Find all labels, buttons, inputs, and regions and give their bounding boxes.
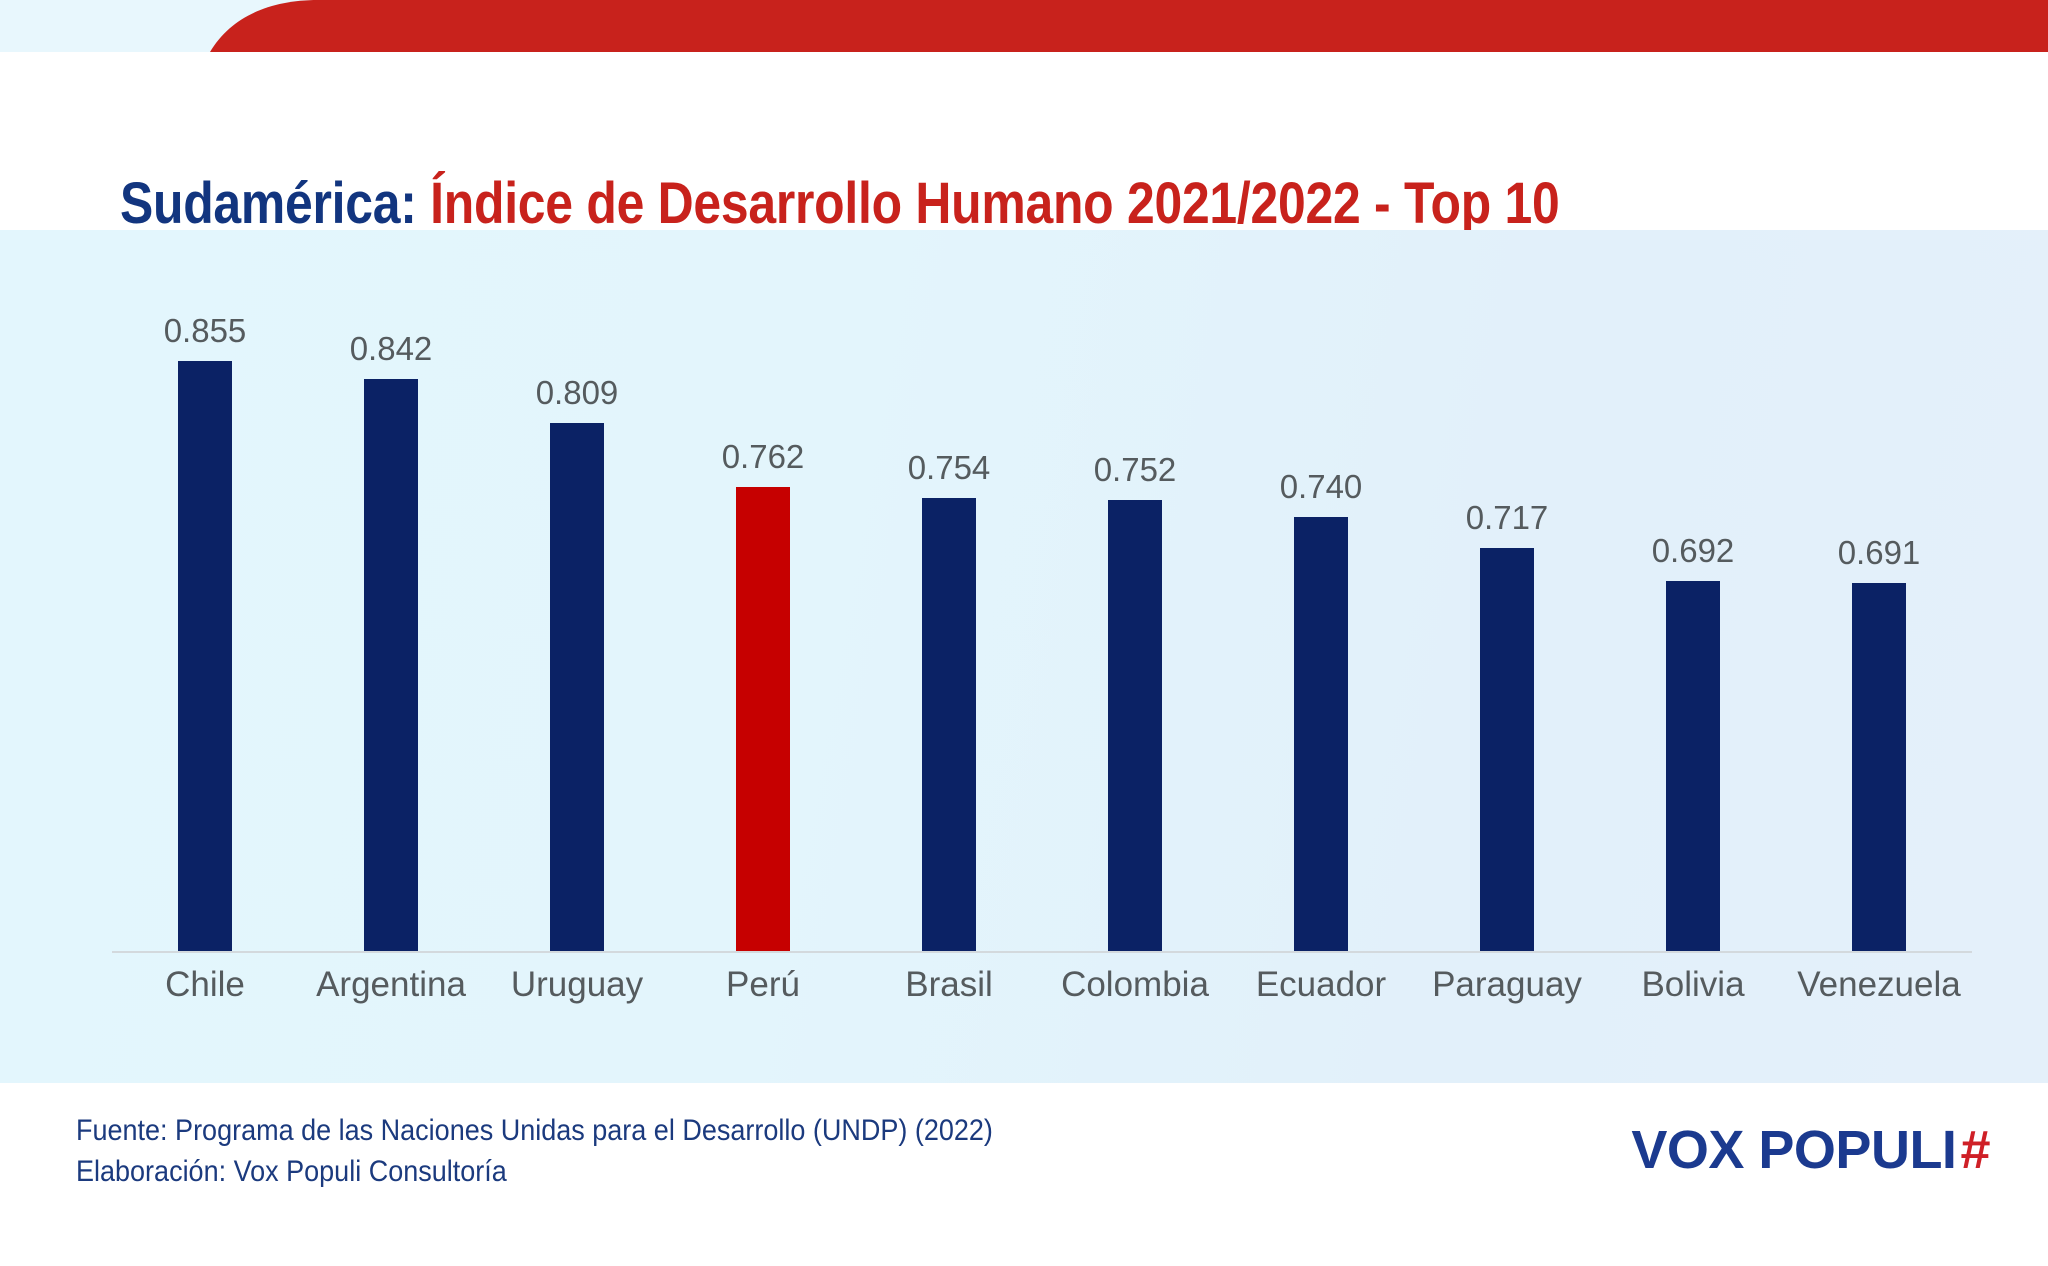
- bar-rect[interactable]: [1666, 581, 1720, 951]
- source-note: Fuente: Programa de las Naciones Unidas …: [76, 1111, 993, 1193]
- category-label-chile: Chile: [112, 965, 298, 1005]
- category-label-paraguay: Paraguay: [1414, 965, 1600, 1005]
- bar-value-label: 0.842: [350, 330, 433, 368]
- banner-shape: [0, 0, 2048, 52]
- bar-group-colombia[interactable]: 0.752: [1042, 230, 1228, 951]
- bar-value-label: 0.752: [1094, 451, 1177, 489]
- bar-value-label: 0.740: [1280, 468, 1363, 506]
- bar-rect[interactable]: [550, 423, 604, 951]
- title-band: Sudamérica: Índice de Desarrollo Humano …: [0, 52, 2048, 230]
- bar-group-argentina[interactable]: 0.842: [298, 230, 484, 951]
- category-label-per: Perú: [670, 965, 856, 1005]
- bar-value-label: 0.691: [1838, 534, 1921, 572]
- bar-chart: 0.8550.8420.8090.7620.7540.7520.7400.717…: [112, 230, 1972, 1083]
- page-title-prefix: Sudamérica:: [120, 171, 417, 236]
- bar-group-ecuador[interactable]: 0.740: [1228, 230, 1414, 951]
- bar-group-uruguay[interactable]: 0.809: [484, 230, 670, 951]
- x-axis-line: [112, 951, 1972, 953]
- category-label-brasil: Brasil: [856, 965, 1042, 1005]
- category-label-bolivia: Bolivia: [1600, 965, 1786, 1005]
- bar-rect[interactable]: [1480, 548, 1534, 951]
- page-title-main: Índice de Desarrollo Humano 2021/2022 - …: [430, 171, 1559, 236]
- bar-value-label: 0.762: [722, 438, 805, 476]
- bar-value-label: 0.855: [164, 312, 247, 350]
- bar-group-chile[interactable]: 0.855: [112, 230, 298, 951]
- category-label-ecuador: Ecuador: [1228, 965, 1414, 1005]
- bar-rect[interactable]: [178, 361, 232, 951]
- bar-group-paraguay[interactable]: 0.717: [1414, 230, 1600, 951]
- bar-rect[interactable]: [736, 487, 790, 951]
- bar-rect[interactable]: [1294, 517, 1348, 951]
- bar-value-label: 0.809: [536, 374, 619, 412]
- bar-value-label: 0.692: [1652, 532, 1735, 570]
- bar-group-brasil[interactable]: 0.754: [856, 230, 1042, 951]
- source-line: Fuente: Programa de las Naciones Unidas …: [76, 1111, 993, 1152]
- bar-value-label: 0.717: [1466, 499, 1549, 537]
- bar-value-label: 0.754: [908, 449, 991, 487]
- category-label-venezuela: Venezuela: [1786, 965, 1972, 1005]
- category-label-argentina: Argentina: [298, 965, 484, 1005]
- bar-group-per[interactable]: 0.762: [670, 230, 856, 951]
- page-title: Sudamérica: Índice de Desarrollo Humano …: [120, 170, 1559, 237]
- bar-group-bolivia[interactable]: 0.692: [1600, 230, 1786, 951]
- vox-populi-logo: VOX POPULI#: [1631, 1119, 1990, 1181]
- bar-rect[interactable]: [922, 498, 976, 951]
- logo-wordmark: VOX POPULI: [1631, 1120, 1956, 1180]
- category-label-colombia: Colombia: [1042, 965, 1228, 1005]
- elaboration-line: Elaboración: Vox Populi Consultoría: [76, 1152, 993, 1193]
- chart-panel: 0.8550.8420.8090.7620.7540.7520.7400.717…: [0, 230, 2048, 1083]
- top-red-banner: [0, 0, 2048, 52]
- bar-rect[interactable]: [1108, 500, 1162, 951]
- hash-icon: #: [1960, 1120, 1990, 1180]
- footer: Fuente: Programa de las Naciones Unidas …: [0, 1083, 2048, 1266]
- bar-group-venezuela[interactable]: 0.691: [1786, 230, 1972, 951]
- bar-rect[interactable]: [364, 379, 418, 951]
- category-label-uruguay: Uruguay: [484, 965, 670, 1005]
- bar-rect[interactable]: [1852, 583, 1906, 951]
